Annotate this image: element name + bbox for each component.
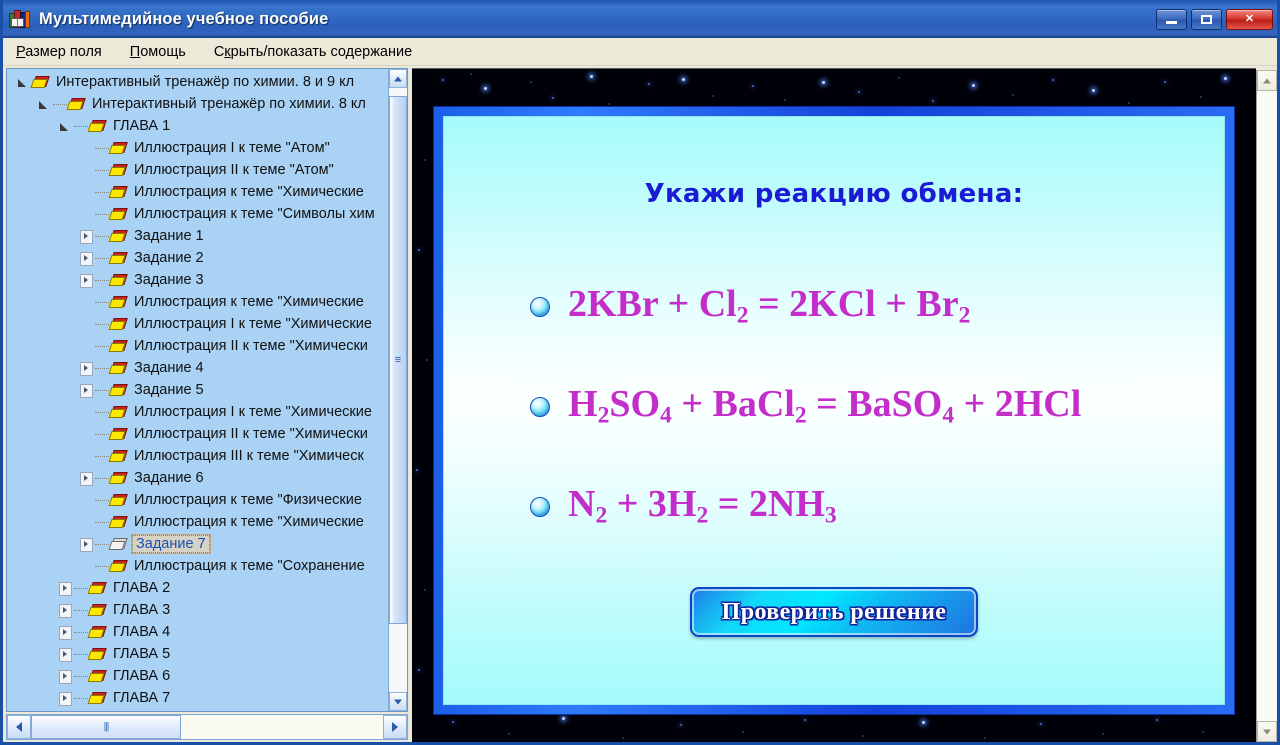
bullet-icon bbox=[530, 497, 550, 517]
tree-item[interactable]: ГЛАВА 1 bbox=[7, 115, 388, 137]
tree-hscroll-track[interactable] bbox=[31, 715, 383, 739]
tree-spacer bbox=[78, 317, 93, 332]
answer-option-3[interactable]: N2 + 3H2 = 2NH3 bbox=[530, 485, 1204, 528]
star bbox=[442, 79, 444, 81]
tree-indent bbox=[7, 555, 78, 577]
content-panel: Укажи реакцию обмена: 2KBr + Cl2 = 2KCl … bbox=[410, 66, 1277, 742]
tree-item-label: Иллюстрация к теме "Сохранение bbox=[132, 558, 367, 574]
equation-2: H2SO4 + BaCl2 = BaSO4 + 2HCl bbox=[568, 385, 1081, 428]
tree-item[interactable]: ГЛАВА 6 bbox=[7, 665, 388, 687]
tree-indent bbox=[7, 401, 78, 423]
tree-indent bbox=[7, 687, 57, 709]
tree-indent bbox=[7, 511, 78, 533]
star bbox=[858, 91, 860, 93]
tree-connector bbox=[95, 522, 109, 523]
star bbox=[784, 99, 786, 101]
tree-connector bbox=[95, 148, 109, 149]
tree-item-label: Иллюстрация I к теме "Химические bbox=[132, 316, 374, 332]
book-icon bbox=[110, 230, 127, 244]
close-icon: ✕ bbox=[1227, 10, 1272, 29]
chevron-right-icon[interactable] bbox=[78, 361, 93, 376]
tree-connector bbox=[95, 214, 109, 215]
slide: Укажи реакцию обмена: 2KBr + Cl2 = 2KCl … bbox=[443, 116, 1225, 705]
star bbox=[862, 735, 864, 737]
tree-indent bbox=[7, 643, 57, 665]
tree-item-label: Иллюстрация II к теме "Химически bbox=[132, 338, 370, 354]
menu-help[interactable]: Помощь bbox=[127, 42, 189, 62]
star bbox=[1052, 79, 1054, 81]
book-icon bbox=[89, 604, 106, 618]
star bbox=[424, 589, 426, 591]
star bbox=[590, 75, 593, 78]
tree-indent bbox=[7, 247, 78, 269]
tree-item-label: ГЛАВА 7 bbox=[111, 690, 172, 706]
tree-item-label: Иллюстрация III к теме "Химическ bbox=[132, 448, 366, 464]
tree-item-label: Иллюстрация к теме "Химические bbox=[132, 514, 366, 530]
tree-item-label: Задание 5 bbox=[132, 382, 206, 398]
menu-label-pre: С bbox=[214, 44, 224, 60]
menu-toggle-toc[interactable]: Скрыть/показать содержание bbox=[211, 42, 415, 62]
bullet-icon bbox=[530, 397, 550, 417]
tree-connector bbox=[74, 698, 88, 699]
star bbox=[1164, 81, 1166, 83]
tree-connector bbox=[95, 236, 109, 237]
tree-item-label: Иллюстрация I к теме "Атом" bbox=[132, 140, 332, 156]
maximize-icon bbox=[1192, 10, 1221, 29]
tree-item[interactable]: Иллюстрация II к теме "Химически bbox=[7, 335, 388, 357]
star bbox=[648, 83, 650, 85]
tree-connector bbox=[95, 192, 109, 193]
tree-connector bbox=[95, 412, 109, 413]
tree-item-label: Задание 7 bbox=[132, 535, 210, 553]
book-icon bbox=[110, 186, 127, 200]
tree-indent bbox=[7, 445, 78, 467]
tree-hscroll-thumb[interactable] bbox=[31, 715, 181, 739]
star bbox=[1224, 77, 1227, 80]
star bbox=[622, 737, 624, 739]
star bbox=[416, 469, 418, 471]
tree-item-label: ГЛАВА 4 bbox=[111, 624, 172, 640]
tree-item[interactable]: Задание 5 bbox=[7, 379, 388, 401]
star bbox=[984, 737, 986, 739]
book-icon bbox=[110, 274, 127, 288]
chevron-right-icon[interactable] bbox=[57, 581, 72, 596]
tree-item-label: Интерактивный тренажёр по химии. 8 и 9 к… bbox=[54, 74, 356, 90]
slide-frame: Укажи реакцию обмена: 2KBr + Cl2 = 2KCl … bbox=[434, 107, 1234, 714]
tree-indent bbox=[7, 335, 78, 357]
star bbox=[562, 717, 565, 720]
tree-spacer bbox=[78, 405, 93, 420]
open-book-icon bbox=[110, 538, 127, 552]
tree-connector bbox=[74, 632, 88, 633]
chevron-right-icon[interactable] bbox=[78, 471, 93, 486]
chevron-right-icon[interactable] bbox=[78, 229, 93, 244]
tree-connector bbox=[95, 566, 109, 567]
star bbox=[484, 87, 487, 90]
tree-indent bbox=[7, 269, 78, 291]
tree-item-label: Иллюстрация I к теме "Химические bbox=[132, 404, 374, 420]
tree-connector bbox=[95, 544, 109, 545]
tree-connector bbox=[95, 302, 109, 303]
table-of-contents-panel: Интерактивный тренажёр по химии. 8 и 9 к… bbox=[3, 66, 410, 742]
tree-indent bbox=[7, 621, 57, 643]
star bbox=[1092, 89, 1095, 92]
tree-indent bbox=[7, 225, 78, 247]
star bbox=[608, 103, 610, 105]
tree-item-label: Интерактивный тренажёр по химии. 8 кл bbox=[90, 96, 368, 112]
tree-item[interactable]: Иллюстрация II к теме "Химически bbox=[7, 423, 388, 445]
tree-item-label: ГЛАВА 5 bbox=[111, 646, 172, 662]
tree-item[interactable]: Иллюстрация к теме "Символы хим bbox=[7, 203, 388, 225]
content-scroll-up-button[interactable] bbox=[1257, 70, 1277, 91]
tree-indent bbox=[7, 203, 78, 225]
tree-item[interactable]: Задание 2 bbox=[7, 247, 388, 269]
tree-item-label: Задание 6 bbox=[132, 470, 206, 486]
book-icon bbox=[68, 98, 85, 112]
menu-field-size[interactable]: Размер поля bbox=[13, 42, 105, 62]
tree-connector bbox=[95, 434, 109, 435]
book-icon bbox=[89, 692, 106, 706]
tree-vscroll-thumb[interactable] bbox=[389, 96, 407, 624]
answer-option-1[interactable]: 2KBr + Cl2 = 2KCl + Br2 bbox=[530, 285, 1204, 328]
star bbox=[1102, 733, 1104, 735]
answer-option-2[interactable]: H2SO4 + BaCl2 = BaSO4 + 2HCl bbox=[530, 385, 1204, 428]
chevron-down-icon[interactable] bbox=[36, 97, 51, 112]
tree-indent bbox=[7, 137, 78, 159]
star bbox=[418, 669, 420, 671]
tree-item[interactable]: Задание 6 bbox=[7, 467, 388, 489]
tree-item[interactable]: Иллюстрация к теме "Химические bbox=[7, 291, 388, 313]
star bbox=[922, 721, 925, 724]
tree-connector bbox=[74, 610, 88, 611]
tree-item-label: Иллюстрация к теме "Химические bbox=[132, 294, 366, 310]
chevron-right-icon[interactable] bbox=[78, 537, 93, 552]
chevron-down-icon[interactable] bbox=[57, 119, 72, 134]
book-icon bbox=[110, 208, 127, 222]
equation-1: 2KBr + Cl2 = 2KCl + Br2 bbox=[568, 285, 970, 328]
chevron-right-icon[interactable] bbox=[57, 691, 72, 706]
tree-spacer bbox=[78, 559, 93, 574]
tree-item[interactable]: Иллюстрация I к теме "Химические bbox=[7, 313, 388, 335]
tree-connector bbox=[95, 170, 109, 171]
tree-vscroll-track[interactable] bbox=[389, 88, 407, 692]
book-icon bbox=[32, 76, 49, 90]
star bbox=[972, 84, 975, 87]
tree-scroll-up-button[interactable] bbox=[389, 69, 407, 88]
tree-connector bbox=[74, 676, 88, 677]
tree-item[interactable]: Задание 1 bbox=[7, 225, 388, 247]
tree-indent bbox=[7, 71, 15, 93]
tree-container: Интерактивный тренажёр по химии. 8 и 9 к… bbox=[6, 68, 408, 712]
tree-item[interactable]: Интерактивный тренажёр по химии. 8 кл bbox=[7, 93, 388, 115]
chevron-right-icon[interactable] bbox=[78, 273, 93, 288]
tree-connector bbox=[95, 456, 109, 457]
book-icon bbox=[110, 340, 127, 354]
window-title: Мультимедийное учебное пособие bbox=[39, 10, 328, 29]
menu-label-post: омощь bbox=[140, 44, 186, 60]
tree-indent bbox=[7, 423, 78, 445]
tree-spacer bbox=[78, 493, 93, 508]
tree-spacer bbox=[78, 141, 93, 156]
tree-item-label: Иллюстрация II к теме "Химически bbox=[132, 426, 370, 442]
close-button[interactable]: ✕ bbox=[1226, 9, 1273, 30]
tree-indent bbox=[7, 357, 78, 379]
tree-item[interactable]: Иллюстрация к теме "Химические bbox=[7, 181, 388, 203]
tree-item[interactable]: ГЛАВА 4 bbox=[7, 621, 388, 643]
star bbox=[682, 78, 685, 81]
content-vertical-scrollbar[interactable] bbox=[1256, 70, 1277, 742]
tree-spacer bbox=[78, 295, 93, 310]
tree-item[interactable]: Иллюстрация к теме "Физические bbox=[7, 489, 388, 511]
tree-connector bbox=[95, 500, 109, 501]
star bbox=[898, 77, 900, 79]
minimize-icon bbox=[1157, 10, 1186, 29]
chevron-right-icon[interactable] bbox=[57, 625, 72, 640]
tree-indent bbox=[7, 379, 78, 401]
question-title: Укажи реакцию обмена: bbox=[444, 179, 1224, 209]
chevron-right-icon[interactable] bbox=[78, 251, 93, 266]
chevron-right-icon[interactable] bbox=[57, 603, 72, 618]
star bbox=[418, 249, 420, 251]
tree-horizontal-scrollbar[interactable] bbox=[6, 714, 408, 740]
tree-item[interactable]: Иллюстрация III к теме "Химическ bbox=[7, 445, 388, 467]
menu-bar: Размер поляПомощьСкрыть/показать содержа… bbox=[3, 38, 1277, 66]
contents-tree[interactable]: Интерактивный тренажёр по химии. 8 и 9 к… bbox=[7, 69, 388, 711]
tree-indent bbox=[7, 665, 57, 687]
tree-item[interactable]: ГЛАВА 5 bbox=[7, 643, 388, 665]
tree-item[interactable]: Задание 4 bbox=[7, 357, 388, 379]
body-area: Интерактивный тренажёр по химии. 8 и 9 к… bbox=[3, 66, 1277, 742]
book-icon bbox=[110, 384, 127, 398]
book-icon bbox=[89, 120, 106, 134]
tree-indent bbox=[7, 181, 78, 203]
star bbox=[1128, 102, 1130, 104]
tree-indent bbox=[7, 489, 78, 511]
tree-item-label: Иллюстрация к теме "Символы хим bbox=[132, 206, 377, 222]
menu-accelerator: Р bbox=[16, 44, 25, 60]
tree-item-label: Иллюстрация II к теме "Атом" bbox=[132, 162, 336, 178]
book-icon bbox=[110, 252, 127, 266]
tree-indent bbox=[7, 115, 57, 137]
tree-connector bbox=[95, 346, 109, 347]
book-icon bbox=[110, 318, 127, 332]
tree-connector bbox=[95, 258, 109, 259]
book-icon bbox=[110, 450, 127, 464]
menu-accelerator: П bbox=[130, 44, 140, 60]
tree-indent bbox=[7, 313, 78, 335]
title-bar: Мультимедийное учебное пособие ✕ bbox=[3, 0, 1277, 38]
tree-spacer bbox=[78, 207, 93, 222]
star bbox=[680, 724, 682, 726]
tree-item[interactable]: ГЛАВА 3 bbox=[7, 599, 388, 621]
tree-indent bbox=[7, 159, 78, 181]
star bbox=[712, 95, 714, 97]
book-icon bbox=[110, 362, 127, 376]
tree-indent bbox=[7, 577, 57, 599]
star bbox=[804, 719, 806, 721]
window-controls: ✕ bbox=[1156, 9, 1273, 30]
tree-item[interactable]: Иллюстрация к теме "Химические bbox=[7, 511, 388, 533]
book-icon bbox=[110, 516, 127, 530]
book-icon bbox=[110, 472, 127, 486]
maximize-button[interactable] bbox=[1191, 9, 1222, 30]
star bbox=[1200, 96, 1202, 98]
tree-item[interactable]: Иллюстрация I к теме "Химические bbox=[7, 401, 388, 423]
star bbox=[1156, 719, 1158, 721]
books-icon bbox=[9, 9, 31, 29]
bullet-icon bbox=[530, 297, 550, 317]
book-icon bbox=[110, 428, 127, 442]
tree-item[interactable]: ГЛАВА 2 bbox=[7, 577, 388, 599]
tree-connector bbox=[53, 104, 67, 105]
star bbox=[424, 159, 426, 161]
star bbox=[1012, 94, 1014, 96]
star bbox=[452, 721, 454, 723]
content-scroll-down-button[interactable] bbox=[1257, 721, 1277, 742]
tree-item-label: ГЛАВА 2 bbox=[111, 580, 172, 596]
tree-connector bbox=[74, 126, 88, 127]
tree-spacer bbox=[78, 515, 93, 530]
tree-item[interactable]: Иллюстрация к теме "Сохранение bbox=[7, 555, 388, 577]
book-icon bbox=[89, 648, 106, 662]
tree-scroll-left-button[interactable] bbox=[7, 715, 31, 739]
tree-scroll-right-button[interactable] bbox=[383, 715, 407, 739]
book-icon bbox=[110, 164, 127, 178]
book-icon bbox=[110, 142, 127, 156]
star bbox=[552, 97, 554, 99]
menu-label-post: рыть/показать содержание bbox=[231, 44, 413, 60]
tree-spacer bbox=[78, 185, 93, 200]
chevron-right-icon[interactable] bbox=[78, 383, 93, 398]
star bbox=[1040, 723, 1042, 725]
tree-item-label: Иллюстрация к теме "Химические bbox=[132, 184, 366, 200]
star bbox=[1202, 731, 1204, 733]
tree-connector bbox=[95, 324, 109, 325]
star bbox=[530, 81, 532, 83]
tree-indent bbox=[7, 291, 78, 313]
tree-item[interactable]: Задание 3 bbox=[7, 269, 388, 291]
presentation-stage: Укажи реакцию обмена: 2KBr + Cl2 = 2KCl … bbox=[412, 68, 1256, 742]
tree-indent bbox=[7, 599, 57, 621]
star bbox=[508, 733, 510, 735]
tree-indent bbox=[7, 93, 36, 115]
tree-spacer bbox=[78, 427, 93, 442]
tree-item-label: ГЛАВА 3 bbox=[111, 602, 172, 618]
menu-label-post: азмер поля bbox=[25, 44, 102, 60]
tree-connector bbox=[95, 368, 109, 369]
tree-spacer bbox=[78, 339, 93, 354]
tree-item-label: Задание 4 bbox=[132, 360, 206, 376]
check-solution-button[interactable]: Проверить решение bbox=[690, 587, 978, 637]
book-icon bbox=[110, 296, 127, 310]
tree-spacer bbox=[78, 163, 93, 178]
check-solution-label: Проверить решение bbox=[722, 599, 947, 626]
book-icon bbox=[89, 626, 106, 640]
tree-item-label: ГЛАВА 6 bbox=[111, 668, 172, 684]
tree-item[interactable]: Иллюстрация II к теме "Атом" bbox=[7, 159, 388, 181]
tree-indent bbox=[7, 533, 78, 555]
tree-indent bbox=[7, 467, 78, 489]
tree-item-label: Иллюстрация к теме "Физические bbox=[132, 492, 364, 508]
star bbox=[426, 359, 428, 361]
tree-vertical-scrollbar[interactable] bbox=[388, 69, 407, 711]
tree-connector bbox=[95, 390, 109, 391]
star bbox=[742, 731, 744, 733]
tree-item[interactable]: Задание 7 bbox=[7, 533, 388, 555]
tree-item-label: ГЛАВА 1 bbox=[111, 118, 172, 134]
book-icon bbox=[110, 406, 127, 420]
tree-item[interactable]: Интерактивный тренажёр по химии. 8 и 9 к… bbox=[7, 71, 388, 93]
star bbox=[932, 100, 934, 102]
application-window: Мультимедийное учебное пособие ✕ Размер … bbox=[0, 0, 1280, 745]
tree-connector bbox=[95, 478, 109, 479]
tree-item-label: Задание 2 bbox=[132, 250, 206, 266]
book-icon bbox=[110, 494, 127, 508]
tree-item[interactable]: ГЛАВА 7 bbox=[7, 687, 388, 709]
book-icon bbox=[110, 560, 127, 574]
chevron-right-icon[interactable] bbox=[57, 669, 72, 684]
star bbox=[822, 81, 825, 84]
tree-item-label: Задание 1 bbox=[132, 228, 206, 244]
tree-item-label: Задание 3 bbox=[132, 272, 206, 288]
tree-item[interactable]: Иллюстрация I к теме "Атом" bbox=[7, 137, 388, 159]
tree-spacer bbox=[78, 449, 93, 464]
tree-connector bbox=[74, 654, 88, 655]
equation-3: N2 + 3H2 = 2NH3 bbox=[568, 485, 837, 528]
tree-connector bbox=[74, 588, 88, 589]
book-icon bbox=[89, 670, 106, 684]
content-vscroll-track[interactable] bbox=[1257, 91, 1277, 721]
chevron-right-icon[interactable] bbox=[57, 647, 72, 662]
chevron-down-icon[interactable] bbox=[15, 75, 30, 90]
tree-scroll-down-button[interactable] bbox=[389, 692, 407, 711]
tree-connector bbox=[95, 280, 109, 281]
star bbox=[470, 73, 472, 75]
minimize-button[interactable] bbox=[1156, 9, 1187, 30]
book-icon bbox=[89, 582, 106, 596]
star bbox=[752, 85, 754, 87]
